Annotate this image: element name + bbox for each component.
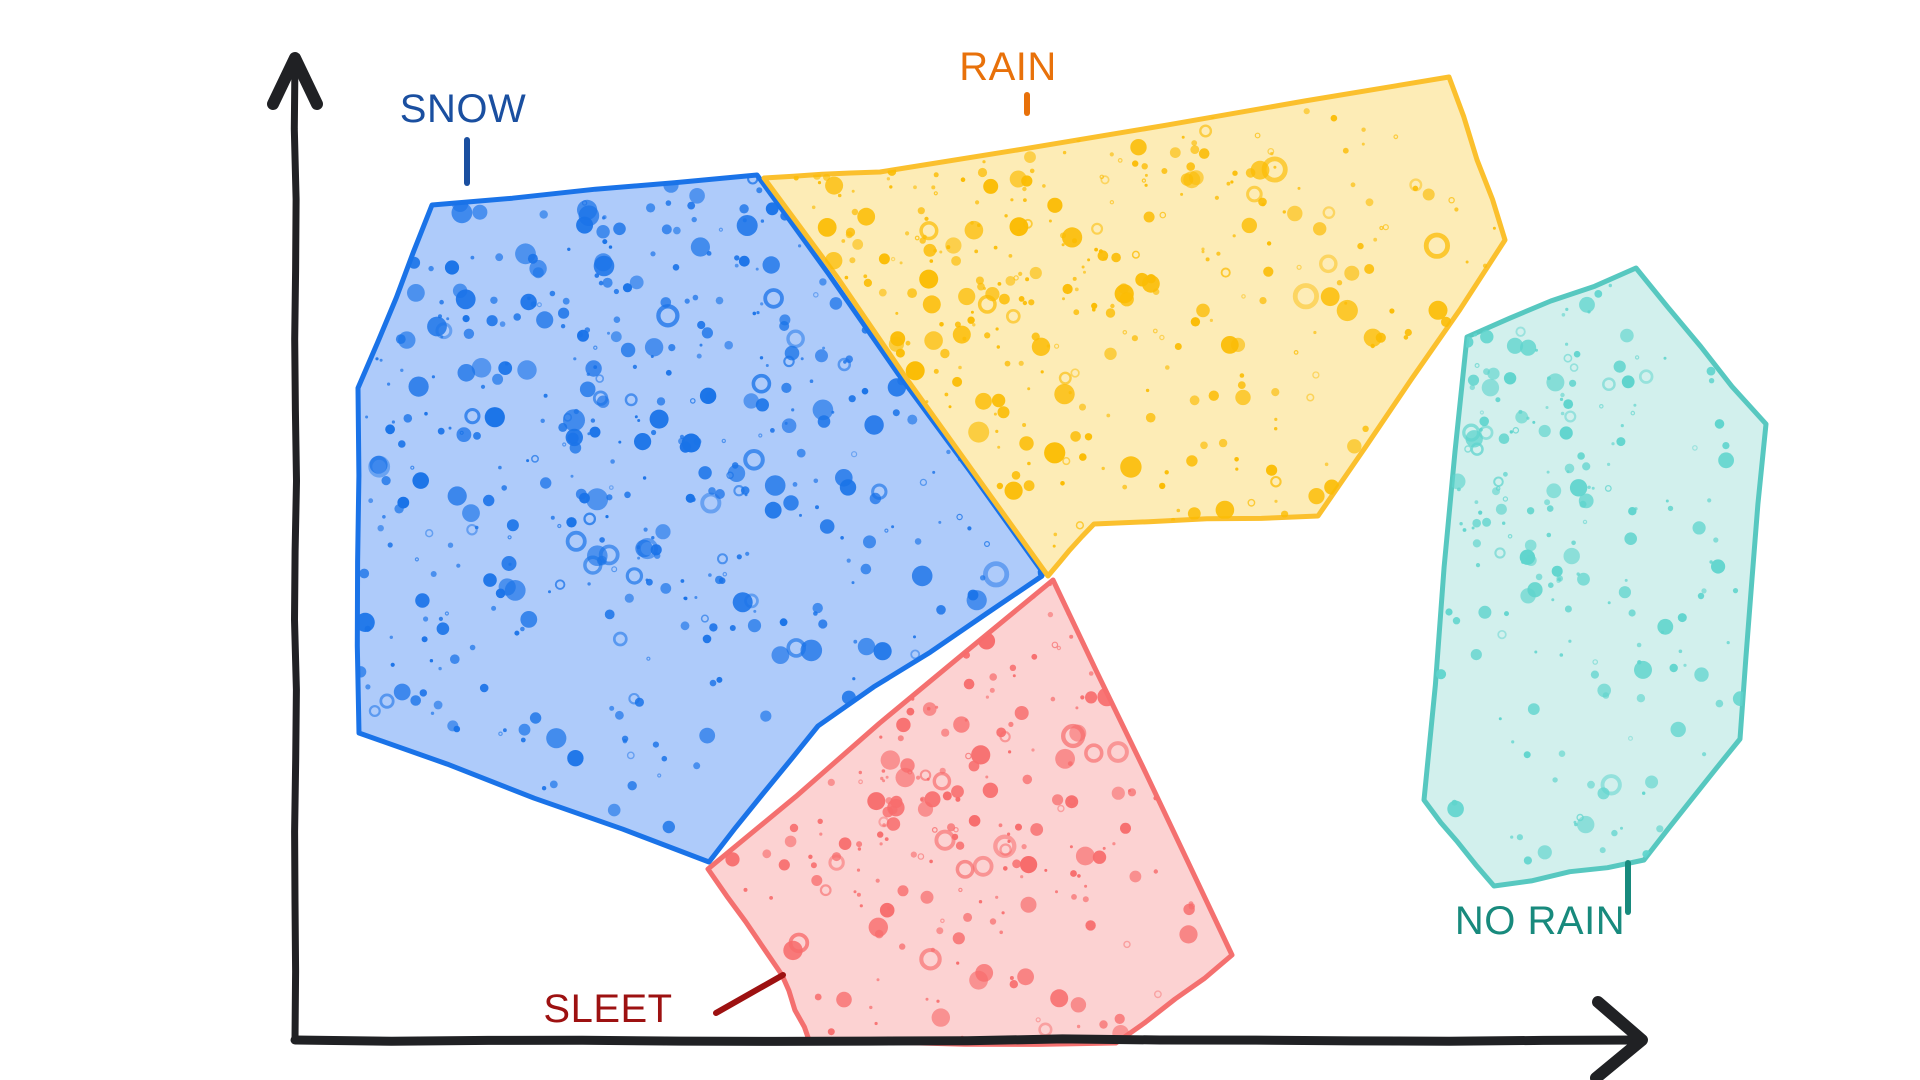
data-point: [382, 515, 386, 519]
data-point: [1483, 368, 1490, 375]
data-point: [1656, 825, 1663, 832]
data-point: [1733, 588, 1738, 593]
data-point: [1707, 367, 1716, 376]
data-point: [965, 719, 968, 722]
data-point: [483, 573, 497, 587]
data-point: [1524, 751, 1531, 758]
data-point: [927, 778, 930, 781]
data-point: [1645, 776, 1658, 789]
data-point: [1180, 193, 1183, 196]
data-point: [999, 931, 1003, 935]
data-point: [508, 563, 511, 566]
data-point: [1621, 424, 1624, 427]
data-point: [1351, 182, 1356, 187]
data-point: [660, 583, 671, 594]
data-point: [646, 203, 655, 212]
data-point: [605, 610, 615, 620]
data-point: [924, 331, 943, 350]
data-point: [995, 896, 998, 899]
data-point: [811, 875, 822, 886]
data-point: [1362, 426, 1368, 432]
data-point: [924, 217, 928, 221]
data-point: [1031, 748, 1034, 751]
data-point: [912, 566, 933, 587]
data-point: [1049, 220, 1052, 223]
data-point: [1106, 414, 1110, 418]
data-point: [1079, 453, 1087, 461]
data-point: [434, 701, 443, 710]
data-point: [1591, 671, 1599, 679]
data-point: [925, 400, 928, 403]
data-point: [415, 593, 429, 607]
data-point: [1463, 528, 1467, 532]
data-point: [1099, 249, 1103, 253]
data-point: [673, 227, 681, 235]
data-point: [1048, 612, 1053, 617]
data-point: [1547, 376, 1551, 380]
data-point: [1083, 271, 1086, 274]
data-point: [1258, 198, 1267, 207]
data-point: [1012, 859, 1021, 868]
data-point: [1547, 471, 1550, 474]
data-point: [1010, 198, 1013, 201]
data-point: [1050, 989, 1068, 1007]
data-point: [550, 781, 558, 789]
cluster-hull-3: [1424, 268, 1766, 886]
data-point: [870, 493, 881, 504]
data-point: [1671, 722, 1686, 737]
data-point: [815, 349, 828, 362]
data-point: [1436, 669, 1446, 679]
data-point: [605, 515, 608, 518]
data-point: [1313, 331, 1316, 334]
data-point: [861, 564, 872, 575]
data-point: [1022, 423, 1026, 427]
data-point: [1235, 390, 1250, 405]
data-point: [858, 638, 875, 655]
data-point: [739, 256, 750, 267]
data-point: [623, 739, 627, 743]
data-point: [1473, 539, 1481, 547]
data-point: [986, 696, 989, 699]
data-point: [654, 553, 660, 559]
data-point: [1055, 749, 1075, 769]
data-point: [847, 559, 851, 563]
data-point: [915, 538, 922, 545]
data-point: [1018, 272, 1022, 276]
data-point: [1069, 391, 1072, 394]
data-point: [1019, 296, 1025, 302]
data-point: [1022, 187, 1026, 191]
data-point: [1073, 309, 1079, 315]
data-point: [1013, 674, 1016, 677]
data-point: [378, 525, 384, 531]
data-point: [936, 1000, 939, 1003]
data-point: [1235, 468, 1238, 471]
data-point: [1017, 968, 1034, 985]
data-point: [1008, 722, 1013, 727]
data-point: [1065, 795, 1078, 808]
data-point: [1565, 464, 1575, 474]
data-point: [1524, 856, 1532, 864]
data-point: [1337, 280, 1342, 285]
data-point: [567, 750, 583, 766]
data-point: [1619, 586, 1631, 598]
data-point: [448, 486, 467, 505]
data-point: [1082, 266, 1085, 269]
data-point: [1577, 452, 1585, 460]
data-point: [1404, 335, 1409, 340]
data-point: [860, 904, 863, 907]
data-point: [1238, 381, 1246, 389]
data-point: [500, 321, 506, 327]
data-point: [1069, 635, 1073, 639]
data-point: [409, 377, 429, 397]
data-point: [1062, 243, 1065, 246]
data-point: [1089, 671, 1094, 676]
data-point: [1190, 395, 1200, 405]
data-point: [420, 689, 427, 696]
data-point: [1683, 664, 1686, 667]
data-point: [481, 385, 485, 389]
data-point: [907, 708, 915, 716]
data-point: [719, 577, 726, 584]
data-point: [1273, 166, 1276, 169]
data-point: [1052, 794, 1063, 805]
data-point: [1002, 911, 1005, 914]
data-point: [940, 768, 946, 774]
data-point: [756, 398, 769, 411]
data-point: [951, 785, 964, 798]
data-point: [906, 341, 911, 346]
data-point: [691, 237, 710, 256]
data-point: [1625, 579, 1628, 582]
data-point: [450, 654, 460, 664]
data-point: [780, 618, 788, 626]
data-point: [387, 383, 390, 386]
data-point: [793, 482, 798, 487]
data-point: [625, 594, 634, 603]
data-point: [1146, 389, 1149, 392]
data-point: [1165, 365, 1170, 370]
data-point: [1004, 214, 1007, 217]
data-point: [730, 625, 736, 631]
data-point: [475, 526, 479, 530]
data-point: [760, 356, 763, 359]
data-point: [838, 194, 842, 198]
data-point: [766, 202, 779, 215]
data-point: [813, 603, 823, 613]
data-point: [808, 855, 812, 859]
data-point: [992, 394, 1005, 407]
data-point: [853, 640, 857, 644]
data-point: [1161, 168, 1167, 174]
data-point: [869, 1006, 872, 1009]
data-point: [1010, 217, 1029, 236]
data-point: [841, 239, 845, 243]
data-point: [1111, 253, 1121, 263]
data-point: [650, 251, 655, 256]
data-point: [779, 321, 789, 331]
data-point: [963, 913, 972, 922]
data-point: [945, 393, 949, 397]
data-point: [1629, 609, 1636, 616]
data-point: [857, 208, 875, 226]
data-point: [906, 361, 925, 380]
data-point: [1177, 509, 1181, 513]
data-point: [880, 903, 895, 918]
data-point: [650, 410, 669, 429]
data-point: [1679, 650, 1683, 654]
data-point: [943, 791, 952, 800]
data-point: [1544, 499, 1550, 505]
data-point: [1670, 664, 1678, 672]
data-point: [496, 589, 506, 599]
data-point: [1546, 483, 1561, 498]
data-point: [365, 416, 368, 419]
data-point: [953, 932, 965, 944]
data-point: [412, 472, 429, 489]
data-point: [949, 405, 952, 408]
data-point: [984, 332, 990, 338]
data-point: [879, 253, 890, 264]
data-point: [961, 177, 966, 182]
data-point: [1010, 976, 1014, 980]
data-point: [1364, 264, 1374, 274]
data-point: [1267, 241, 1271, 245]
data-point: [737, 554, 742, 559]
data-point: [818, 619, 827, 628]
data-point: [1536, 574, 1543, 581]
data-point: [1565, 343, 1568, 346]
data-point: [936, 927, 943, 934]
data-point: [666, 200, 672, 206]
data-point: [1343, 148, 1349, 154]
data-point: [849, 257, 855, 263]
data-point: [1642, 792, 1645, 795]
data-point: [879, 289, 887, 297]
data-point: [958, 288, 975, 305]
data-point: [890, 331, 905, 346]
data-point: [1527, 507, 1534, 514]
data-point: [424, 412, 428, 416]
data-point: [735, 264, 739, 268]
data-point: [1130, 139, 1146, 155]
data-point: [1568, 640, 1571, 643]
data-point: [637, 419, 640, 422]
data-point: [985, 776, 988, 779]
data-point: [790, 824, 798, 832]
data-point: [1144, 212, 1155, 223]
data-point: [1452, 800, 1458, 806]
data-point: [818, 218, 837, 237]
data-point: [651, 430, 656, 435]
data-point: [862, 388, 869, 395]
cluster-label-snow: SNOW: [400, 87, 526, 131]
data-point: [1598, 787, 1610, 799]
data-point: [881, 750, 900, 769]
data-point: [1608, 601, 1611, 604]
data-point: [1063, 284, 1073, 294]
data-point: [1110, 304, 1114, 308]
data-point: [470, 645, 476, 651]
data-point: [472, 205, 487, 220]
data-point: [1525, 540, 1537, 552]
data-point: [1087, 258, 1090, 261]
data-point: [940, 349, 949, 358]
data-point: [1423, 189, 1435, 201]
data-point: [1479, 417, 1489, 427]
data-point: [716, 297, 724, 305]
data-point: [1476, 563, 1480, 567]
data-point: [936, 605, 946, 615]
data-point: [969, 971, 988, 990]
data-point: [819, 278, 826, 285]
data-point: [1024, 480, 1035, 491]
data-point: [693, 295, 699, 301]
data-point: [996, 728, 1006, 738]
data-point: [1472, 519, 1481, 528]
data-point: [798, 244, 801, 247]
data-point: [857, 893, 861, 897]
data-point: [1032, 338, 1050, 356]
data-point: [1562, 313, 1566, 317]
data-point: [1120, 823, 1131, 834]
data-point: [877, 831, 883, 837]
data-point: [1413, 186, 1418, 191]
data-point: [1112, 842, 1115, 845]
data-point: [1154, 869, 1158, 873]
data-point: [1471, 649, 1482, 660]
data-point: [614, 316, 621, 323]
data-point: [863, 274, 867, 278]
data-point: [1511, 740, 1514, 743]
data-point: [1251, 161, 1270, 180]
data-point: [597, 396, 609, 408]
data-point: [1190, 145, 1199, 154]
data-point: [445, 260, 459, 274]
data-point: [974, 250, 978, 254]
data-point: [514, 631, 519, 636]
data-point: [507, 519, 519, 531]
data-point: [1657, 619, 1673, 635]
data-point: [1559, 750, 1566, 757]
data-point: [1041, 370, 1044, 373]
data-point: [485, 407, 505, 427]
data-point: [1727, 641, 1730, 644]
data-point: [1616, 437, 1625, 446]
data-point: [1480, 330, 1493, 343]
data-point: [430, 659, 433, 662]
data-point: [1071, 894, 1077, 900]
data-point: [867, 792, 885, 810]
data-point: [819, 833, 822, 836]
data-point: [1112, 787, 1125, 800]
data-point: [1005, 361, 1011, 367]
data-point: [924, 244, 937, 257]
y-axis: [294, 60, 296, 1040]
data-point: [875, 1022, 878, 1025]
data-point: [398, 440, 406, 448]
data-point: [998, 406, 1010, 418]
data-point: [662, 756, 668, 762]
data-point: [1070, 431, 1081, 442]
scatter-plot-svg: SNOWRAINSLEETNO RAIN: [0, 0, 1920, 1080]
data-point: [887, 177, 890, 180]
data-point: [1023, 198, 1027, 202]
data-point: [1120, 456, 1141, 477]
data-point: [439, 617, 443, 621]
data-point: [1182, 136, 1185, 139]
data-point: [770, 428, 775, 433]
data-point: [934, 369, 939, 374]
data-point: [1611, 442, 1614, 445]
data-point: [1564, 548, 1580, 564]
data-point: [428, 266, 433, 271]
data-point: [365, 684, 370, 689]
data-point: [831, 411, 834, 414]
data-point: [964, 679, 975, 690]
data-point: [1361, 128, 1365, 132]
data-point: [540, 477, 551, 488]
data-point: [1492, 487, 1500, 495]
data-point: [1206, 257, 1210, 261]
data-point: [613, 223, 626, 236]
data-point: [1083, 896, 1089, 902]
data-point: [1551, 598, 1554, 601]
data-point: [978, 168, 987, 177]
data-point: [810, 379, 814, 383]
data-point: [1060, 233, 1066, 239]
data-point: [382, 476, 391, 485]
data-point: [1210, 319, 1213, 322]
data-point: [958, 366, 962, 370]
data-point: [1215, 196, 1219, 200]
data-point: [956, 842, 964, 850]
data-point: [893, 409, 900, 416]
data-point: [520, 627, 525, 632]
data-point: [1110, 152, 1114, 156]
cluster-label-no-rain: NO RAIN: [1455, 899, 1625, 943]
data-point: [1496, 504, 1507, 515]
data-point: [898, 735, 904, 741]
data-point: [1609, 284, 1612, 287]
data-point: [1077, 874, 1081, 878]
data-point: [1565, 308, 1568, 311]
data-point: [437, 622, 450, 635]
data-point: [1008, 750, 1011, 753]
data-point: [624, 492, 631, 499]
data-point: [898, 885, 909, 896]
data-point: [1024, 151, 1036, 163]
cluster-label-sleet: SLEET: [543, 987, 672, 1031]
data-point: [811, 862, 817, 868]
data-point: [1587, 781, 1595, 789]
data-point: [400, 369, 403, 372]
data-point: [765, 475, 786, 496]
data-point: [1515, 411, 1528, 424]
data-point: [1170, 147, 1181, 158]
data-point: [1132, 335, 1138, 341]
data-point: [1633, 404, 1636, 407]
data-point: [576, 489, 587, 500]
data-point: [920, 237, 926, 243]
data-point: [681, 579, 685, 583]
data-point: [846, 228, 855, 237]
data-point: [1106, 308, 1115, 317]
data-point: [1560, 398, 1563, 401]
data-point: [1071, 997, 1086, 1012]
